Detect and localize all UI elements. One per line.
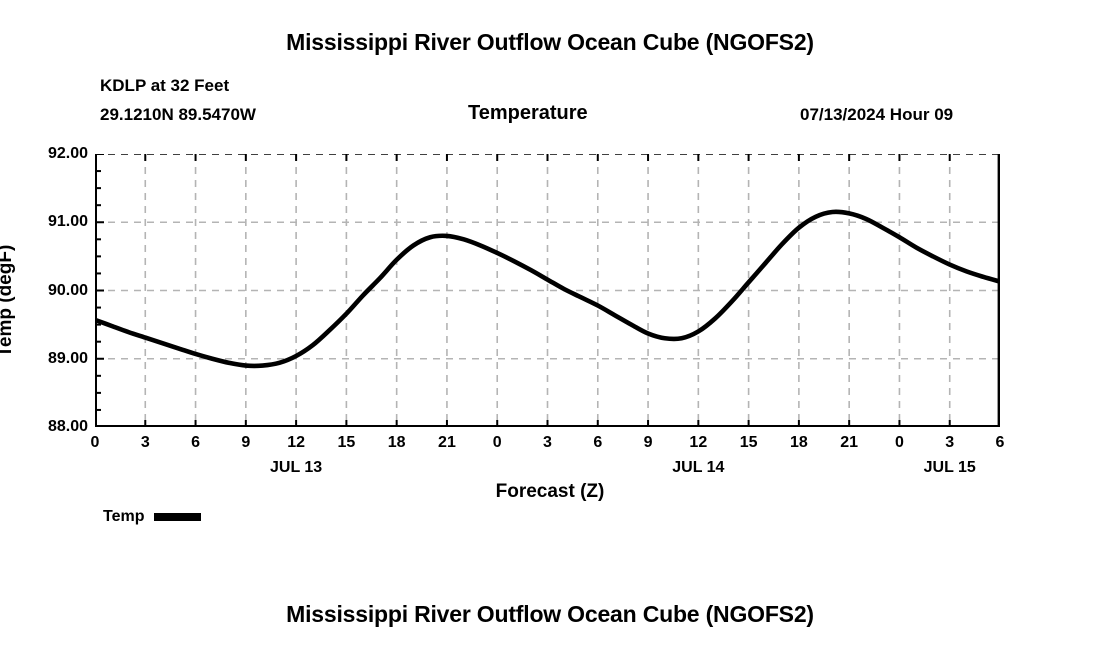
x-tick-label: 12 bbox=[287, 434, 305, 452]
x-tick-label: 0 bbox=[493, 434, 502, 452]
x-tick-label: 6 bbox=[191, 434, 200, 452]
y-tick-label: 90.00 bbox=[38, 282, 88, 300]
x-tick-label: 9 bbox=[644, 434, 653, 452]
x-tick-label: 6 bbox=[593, 434, 602, 452]
page-title-bottom: Mississippi River Outflow Ocean Cube (NG… bbox=[0, 601, 1100, 628]
x-tick-label: 0 bbox=[895, 434, 904, 452]
x-tick-label: 3 bbox=[945, 434, 954, 452]
y-tick-label: 91.00 bbox=[38, 213, 88, 231]
x-tick-label: 18 bbox=[388, 434, 406, 452]
chart-page: Mississippi River Outflow Ocean Cube (NG… bbox=[0, 0, 1100, 650]
x-tick-label: 12 bbox=[689, 434, 707, 452]
x-tick-label: 6 bbox=[996, 434, 1005, 452]
x-tick-label: 9 bbox=[241, 434, 250, 452]
legend-swatch-temp bbox=[154, 513, 201, 521]
run-time-label: 07/13/2024 Hour 09 bbox=[800, 105, 953, 125]
x-day-label: JUL 15 bbox=[924, 459, 976, 477]
x-tick-label: 15 bbox=[740, 434, 758, 452]
x-day-label: JUL 13 bbox=[270, 459, 322, 477]
x-tick-label: 18 bbox=[790, 434, 808, 452]
station-label: KDLP at 32 Feet bbox=[100, 76, 229, 96]
x-day-label: JUL 14 bbox=[672, 459, 724, 477]
x-tick-label: 0 bbox=[91, 434, 100, 452]
y-tick-label: 88.00 bbox=[38, 418, 88, 436]
temperature-line-chart bbox=[95, 154, 1000, 427]
y-tick-label: 92.00 bbox=[38, 145, 88, 163]
plot-area bbox=[95, 154, 1000, 427]
x-tick-label: 21 bbox=[438, 434, 456, 452]
x-tick-label: 15 bbox=[337, 434, 355, 452]
variable-label: Temperature bbox=[468, 102, 588, 125]
legend-label-temp: Temp bbox=[103, 508, 144, 526]
coordinates-label: 29.1210N 89.5470W bbox=[100, 105, 256, 125]
x-tick-label: 3 bbox=[141, 434, 150, 452]
legend: Temp bbox=[103, 508, 201, 526]
y-tick-label: 89.00 bbox=[38, 350, 88, 368]
page-title-top: Mississippi River Outflow Ocean Cube (NG… bbox=[0, 29, 1100, 56]
y-axis-title: Temp (degF) bbox=[0, 221, 17, 381]
x-axis-title: Forecast (Z) bbox=[0, 481, 1100, 503]
x-tick-label: 3 bbox=[543, 434, 552, 452]
x-tick-label: 21 bbox=[840, 434, 858, 452]
